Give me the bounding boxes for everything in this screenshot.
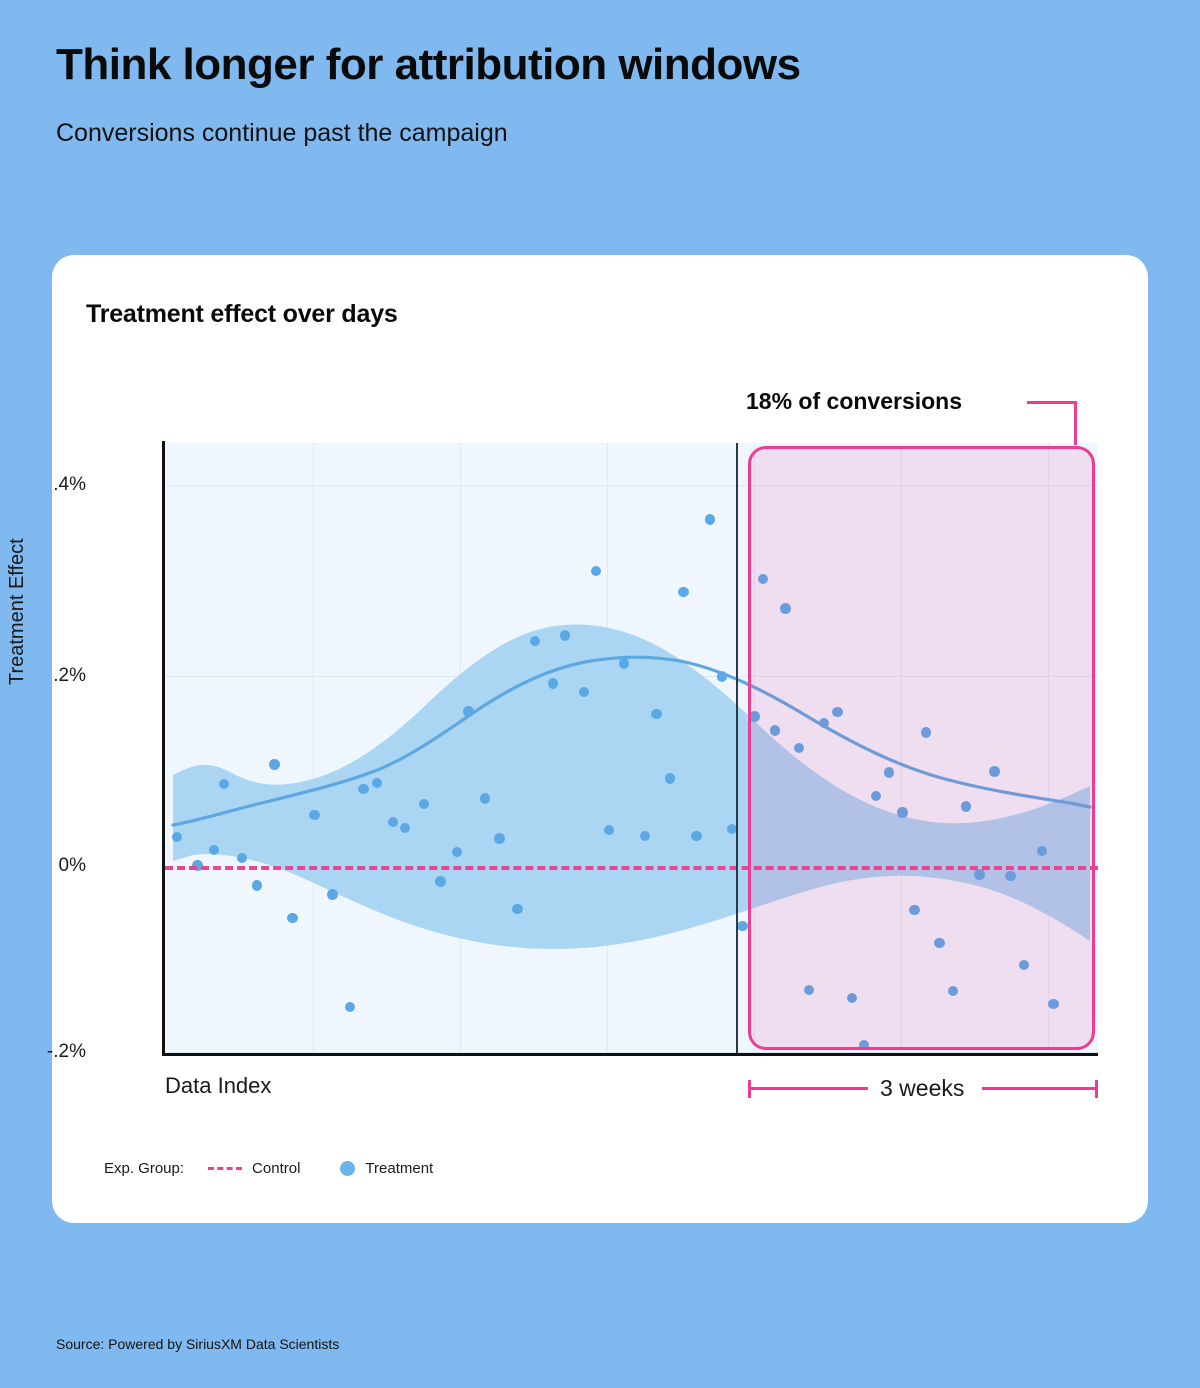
legend-label-treatment: Treatment <box>365 1160 433 1177</box>
scatter-point <box>717 671 727 681</box>
scatter-point <box>237 853 247 863</box>
campaign-end-divider <box>736 443 738 1053</box>
y-tick-label-0: .4% <box>53 474 86 496</box>
scatter-point <box>651 709 661 719</box>
callout-leader-horizontal <box>1027 401 1077 404</box>
scatter-point <box>287 913 297 923</box>
legend-item-control[interactable]: Control <box>208 1160 300 1177</box>
y-tick-label-3: -.2% <box>47 1041 86 1063</box>
dimension-line-left <box>748 1087 868 1090</box>
scatter-point <box>269 759 279 769</box>
circle-marker-icon <box>340 1161 355 1176</box>
dimension-line-right <box>982 1087 1095 1090</box>
page-title: Think longer for attribution windows <box>56 40 1146 91</box>
scatter-point <box>494 833 504 843</box>
chart-card: Treatment effect over days Treatment Eff… <box>52 255 1148 1223</box>
source-note: Source: Powered by SiriusXM Data Scienti… <box>56 1336 339 1352</box>
scatter-point <box>548 678 558 688</box>
scatter-point <box>358 784 368 794</box>
x-axis-label: Data Index <box>165 1073 271 1099</box>
y-tick-label-1: .2% <box>53 665 86 687</box>
plot-region <box>165 443 1098 1053</box>
dashed-line-icon <box>208 1167 242 1170</box>
dimension-cap-right <box>1095 1080 1098 1098</box>
scatter-point <box>372 778 382 788</box>
legend-item-treatment[interactable]: Treatment <box>340 1160 433 1177</box>
scatter-point <box>512 904 522 914</box>
scatter-point <box>309 810 319 820</box>
scatter-point <box>452 847 462 857</box>
scatter-point <box>705 514 715 524</box>
scatter-point <box>691 831 701 841</box>
scatter-point <box>480 793 490 803</box>
dimension-label: 3 weeks <box>880 1075 964 1102</box>
page-subtitle: Conversions continue past the campaign <box>56 119 1146 148</box>
highlight-region[interactable] <box>748 446 1095 1050</box>
legend-title: Exp. Group: <box>104 1160 184 1177</box>
scatter-point <box>327 889 337 899</box>
x-axis-line <box>162 1053 1098 1056</box>
chart-legend: Exp. Group: Control Treatment <box>104 1160 433 1177</box>
y-axis-label: Treatment Effect <box>6 538 29 685</box>
callout-leader-vertical <box>1074 401 1077 445</box>
scatter-point <box>435 876 445 886</box>
scatter-point <box>560 630 570 640</box>
scatter-point <box>619 658 629 668</box>
scatter-point <box>252 880 262 890</box>
legend-label-control: Control <box>252 1160 300 1177</box>
y-axis-line <box>162 441 165 1055</box>
scatter-point <box>463 706 473 716</box>
scatter-point <box>737 921 747 931</box>
highlight-callout-label: 18% of conversions <box>746 388 962 415</box>
y-tick-label-2: 0% <box>59 855 86 877</box>
scatter-point <box>209 845 219 855</box>
chart-figure: Treatment Effect .4% .2% 0% -.2% <box>52 255 1148 1223</box>
scatter-point <box>172 832 182 842</box>
scatter-point <box>665 773 675 783</box>
scatter-point <box>678 587 688 597</box>
page-header: Think longer for attribution windows Con… <box>56 40 1146 148</box>
